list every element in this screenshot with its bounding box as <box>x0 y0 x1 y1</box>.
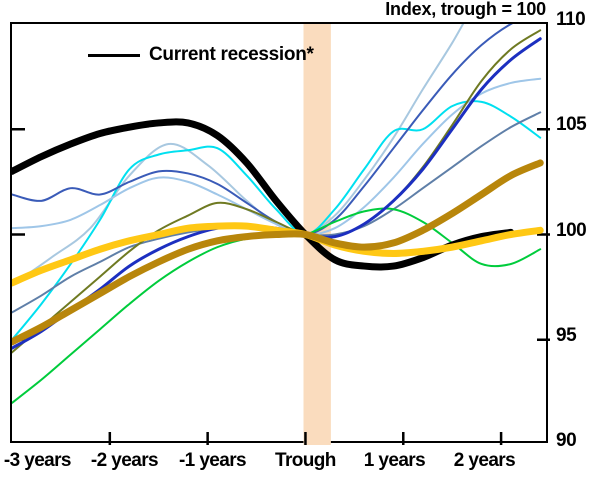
legend-label-current-recession: Current recession* <box>149 44 314 66</box>
legend: Current recession* <box>88 44 314 66</box>
chart-svg <box>12 24 550 445</box>
series-line-recession-olive <box>12 30 540 352</box>
y-tick-label-90: 90 <box>556 430 576 452</box>
y-tick-label-105: 105 <box>556 114 586 136</box>
x-tick-label-1-years: 1 years <box>364 450 425 472</box>
x-tick-label-2-years: 2 years <box>454 450 515 472</box>
plot-area <box>10 22 548 443</box>
chart-title: Index, trough = 100 <box>385 0 546 20</box>
y-tick-label-100: 100 <box>556 220 586 242</box>
x-tick-label-3-years: -3 years <box>4 450 71 472</box>
legend-line-current-recession <box>88 54 140 57</box>
y-tick-label-110: 110 <box>556 9 585 31</box>
series-canvas <box>12 24 550 445</box>
x-tick-label-trough: Trough <box>275 450 336 472</box>
series-line-recession-slate <box>12 112 540 312</box>
series-line-current-recession <box>12 122 511 267</box>
chart-figure: Index, trough = 100 Current recession* 1… <box>0 0 600 478</box>
y-tick-label-95: 95 <box>556 325 576 347</box>
x-tick-label-1-years: -1 years <box>179 450 246 472</box>
x-tick-label-2-years: -2 years <box>91 450 158 472</box>
